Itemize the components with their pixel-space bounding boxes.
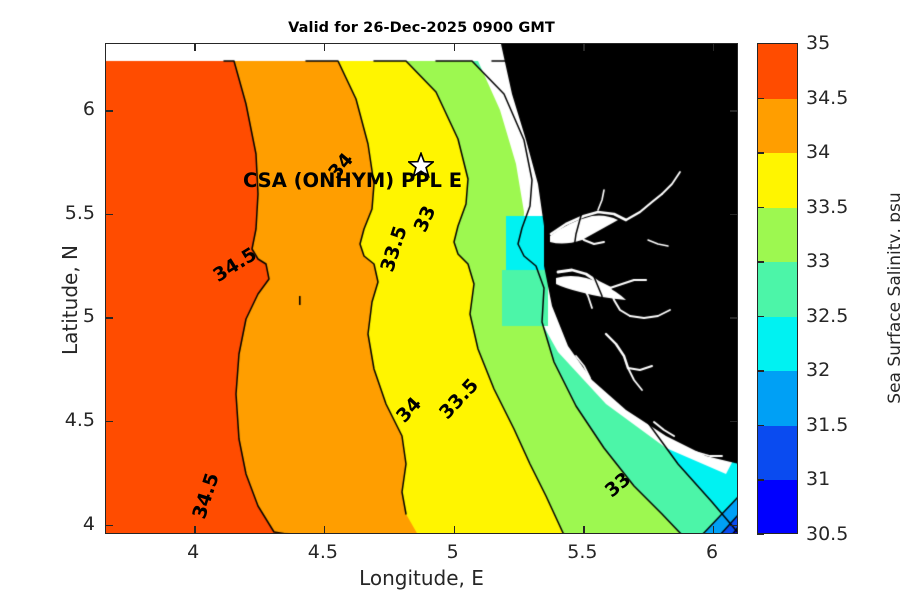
- y-tick-mark: [106, 525, 113, 526]
- colorbar-band: [758, 262, 797, 317]
- y-tick-mark: [730, 214, 737, 215]
- colorbar-band: [758, 99, 797, 154]
- colorbar-tick-mark: [757, 316, 764, 317]
- x-tick-label: 4: [187, 541, 199, 563]
- x-tick-mark: [713, 526, 714, 533]
- x-tick-mark: [324, 44, 325, 51]
- y-tick-mark: [106, 421, 113, 422]
- colorbar-band: [758, 480, 797, 534]
- colorbar-title: Sea Surface Salinity, psu: [885, 138, 900, 458]
- x-tick-label: 4.5: [308, 541, 338, 563]
- colorbar-tick-mark: [757, 479, 764, 480]
- colorbar-tick-label: 34: [806, 141, 830, 163]
- y-tick-mark: [730, 525, 737, 526]
- colorbar-band: [758, 317, 797, 372]
- x-tick-label: 6: [706, 541, 718, 563]
- colorbar-tick-label: 31.5: [806, 414, 848, 436]
- x-axis-title: Longitude, E: [105, 566, 738, 590]
- map-axes[interactable]: CSA (ONHYM) PPL E 34.534.53433.5333433.5…: [105, 43, 738, 534]
- x-tick-mark: [583, 44, 584, 51]
- y-tick-mark: [106, 110, 113, 111]
- colorbar-tick-label: 33: [806, 250, 830, 272]
- colorbar-tick-mark: [757, 98, 764, 99]
- y-tick-mark: [730, 421, 737, 422]
- figure-canvas: Valid for 26-Dec-2025 0900 GMT CSA (ONHY…: [0, 0, 900, 600]
- y-tick-label: 6: [43, 98, 95, 120]
- page-title: Valid for 26-Dec-2025 0900 GMT: [105, 20, 738, 36]
- x-tick-label: 5.5: [567, 541, 597, 563]
- y-tick-mark: [730, 317, 737, 318]
- x-tick-mark: [583, 526, 584, 533]
- colorbar-tick-mark: [757, 534, 764, 535]
- x-tick-mark: [324, 526, 325, 533]
- colorbar-tick-mark: [757, 425, 764, 426]
- x-tick-label: 5: [447, 541, 459, 563]
- colorbar[interactable]: [757, 43, 798, 534]
- x-tick-mark: [713, 44, 714, 51]
- colorbar-tick-label: 31: [806, 468, 830, 490]
- colorbar-tick-mark: [757, 152, 764, 153]
- colorbar-tick-label: 34.5: [806, 87, 848, 109]
- y-axis-title: Latitude, N: [58, 170, 82, 430]
- colorbar-band: [758, 371, 797, 426]
- colorbar-band: [758, 153, 797, 208]
- colorbar-tick-label: 30.5: [806, 523, 848, 545]
- colorbar-tick-mark: [757, 261, 764, 262]
- x-tick-mark: [454, 44, 455, 51]
- x-tick-mark: [194, 44, 195, 51]
- salinity-contour-map: [106, 44, 738, 534]
- y-tick-label: 4: [43, 513, 95, 535]
- site-annotation-label: CSA (ONHYM) PPL E: [243, 169, 462, 192]
- y-tick-mark: [106, 214, 113, 215]
- colorbar-tick-label: 33.5: [806, 196, 848, 218]
- y-tick-mark: [730, 110, 737, 111]
- colorbar-band: [758, 426, 797, 481]
- colorbar-band: [758, 44, 797, 99]
- colorbar-tick-label: 35: [806, 32, 830, 54]
- colorbar-tick-label: 32.5: [806, 305, 848, 327]
- y-tick-mark: [106, 317, 113, 318]
- x-tick-mark: [454, 526, 455, 533]
- colorbar-tick-mark: [757, 370, 764, 371]
- colorbar-band: [758, 208, 797, 263]
- colorbar-tick-mark: [757, 207, 764, 208]
- colorbar-tick-label: 32: [806, 359, 830, 381]
- x-tick-mark: [194, 526, 195, 533]
